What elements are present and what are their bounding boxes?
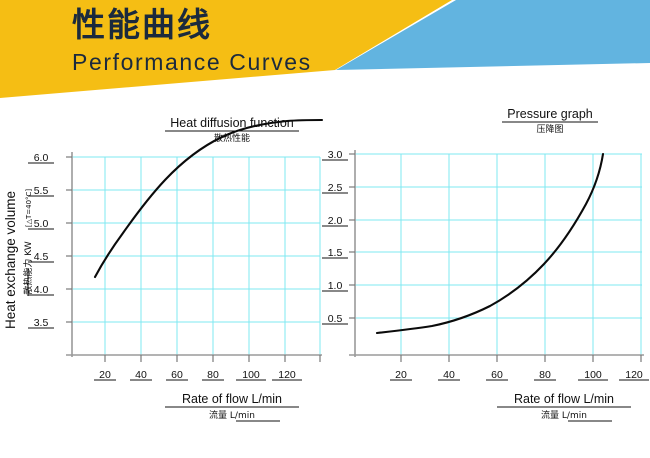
chart-left-y-ticks (66, 157, 72, 322)
chart-heat-diffusion: Heat diffusion function 散热性能 (0, 100, 330, 450)
chart-pressure-graph: Pressure graph 压降图 (320, 100, 650, 450)
chart-left-xlabel-cn: 流量 L/min (209, 409, 255, 421)
chart-right-ytick-05: 0.5 (328, 313, 343, 325)
page-title-en: Performance Curves (72, 48, 402, 76)
chart-left-xtick-20: 20 (99, 369, 111, 381)
chart-right-gridlines (355, 154, 642, 355)
chart-right-xtick-80: 80 (539, 369, 551, 381)
chart-left-xtick-80: 80 (207, 369, 219, 381)
chart-left-ytick-6: 6.0 (34, 152, 49, 164)
chart-left-xtick-120: 120 (278, 369, 296, 381)
chart-right-ytick-20: 2.0 (328, 215, 343, 227)
chart-left-xlabel-en: Rate of flow L/min (182, 392, 282, 406)
chart-right-ytick-15: 1.5 (328, 247, 343, 259)
chart-left-ytick-5: 5.5 (34, 185, 49, 197)
chart-right-xtick-40: 40 (443, 369, 455, 381)
chart-right-ytick-10: 1.0 (328, 280, 343, 292)
chart-right-xlabel-en: Rate of flow L/min (514, 392, 614, 406)
chart-left-ytick-3: 4.5 (34, 251, 49, 263)
chart-right-xtick-60: 60 (491, 369, 503, 381)
chart-right-curve (377, 154, 603, 333)
performance-curves-page: 性能曲线 Performance Curves Heat diffusion f… (0, 0, 650, 458)
chart-right-ylabel-group: bar 压降 (320, 230, 321, 287)
chart-left-gridlines (72, 157, 320, 355)
chart-left-ylabel-group: Heat exchange volume 散热能力 KW [△T=40°C] (3, 189, 34, 329)
chart-right-xtick-100: 100 (584, 369, 602, 381)
chart-right-ylabel-cn: 压降 (320, 269, 321, 287)
chart-left-xtick-40: 40 (135, 369, 147, 381)
chart-left-ytick-4: 5.0 (34, 218, 49, 230)
chart-left-x-ticks (105, 355, 320, 362)
chart-right-title-cn: 压降图 (536, 123, 563, 135)
chart-right-xlabel-cn: 流量 L/min (541, 409, 587, 421)
chart-right-title-en: Pressure graph (507, 107, 593, 121)
banner-title-group: 性能曲线 Performance Curves (72, 4, 402, 76)
chart-right-y-ticks (349, 154, 355, 318)
chart-left-ytick-1: 3.5 (34, 317, 49, 329)
page-title-cn: 性能曲线 (72, 4, 402, 46)
chart-left-ytick-2: 4.0 (34, 284, 49, 296)
chart-left-ylabel-condition: [△T=40°C] (25, 189, 33, 228)
chart-left-xtick-60: 60 (171, 369, 183, 381)
chart-left-xtick-100: 100 (242, 369, 260, 381)
chart-left-curve (95, 120, 322, 277)
chart-right-x-ticks (401, 355, 641, 362)
chart-right-ytick-30: 3.0 (328, 149, 343, 161)
chart-right-ytick-25: 2.5 (328, 182, 343, 194)
chart-right-xtick-120: 120 (625, 369, 643, 381)
chart-right-ylabel-en: bar (320, 230, 321, 250)
chart-left-ylabel-en: Heat exchange volume (3, 191, 18, 329)
chart-right-xtick-20: 20 (395, 369, 407, 381)
